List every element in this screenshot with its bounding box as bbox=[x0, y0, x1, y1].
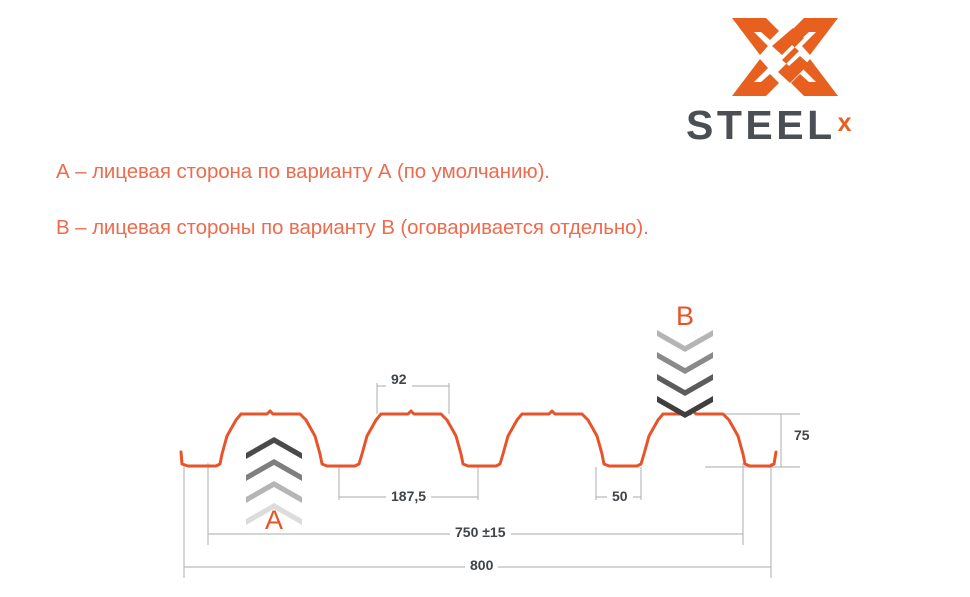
chevron-down-3-icon bbox=[657, 374, 713, 396]
chevron-down-4-icon bbox=[657, 396, 713, 418]
marker-a-letter: А bbox=[246, 507, 302, 534]
chevron-down-1-icon bbox=[657, 330, 713, 352]
marker-b-chevrons bbox=[657, 330, 713, 418]
profile-technical-drawing bbox=[0, 0, 970, 597]
chevron-down-2-icon bbox=[657, 352, 713, 374]
dimension-label-total-width: 800 bbox=[465, 557, 498, 573]
chevron-up-2-icon bbox=[246, 459, 302, 481]
marker-b-letter: В bbox=[657, 303, 713, 330]
dimension-label-rib-top-width: 92 bbox=[386, 371, 412, 387]
dimension-label-effective-width: 750 ±15 bbox=[450, 524, 511, 540]
dimension-label-height: 75 bbox=[789, 427, 815, 443]
chevron-up-1-icon bbox=[246, 437, 302, 459]
dimension-label-pitch: 187,5 bbox=[386, 488, 431, 504]
chevron-up-3-icon bbox=[246, 481, 302, 503]
dimension-label-valley-width: 50 bbox=[607, 488, 633, 504]
